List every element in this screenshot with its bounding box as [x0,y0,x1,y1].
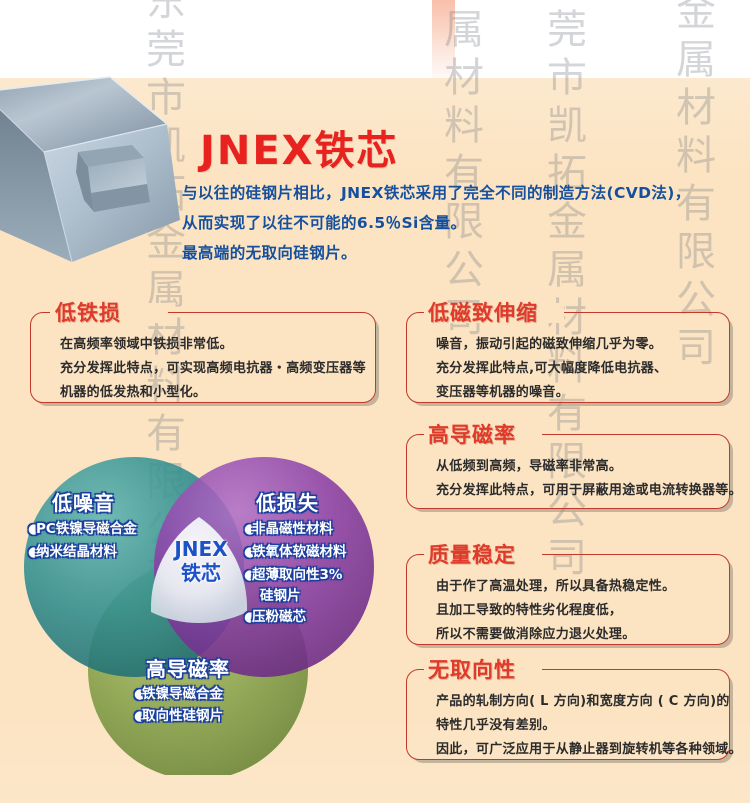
intro-line-2: 从而实现了以往不可能的6.5％Si含量。 [182,208,750,238]
feature-body: 由于作了高温处理，所以具备热稳定性。 且加工导致的特性劣化程度低， 所以不需要做… [436,575,714,647]
steel-core-block-icon [0,72,197,287]
feature-line: 充分发挥此特点,可大幅度降低电抗器、 [436,357,714,381]
feature-line: 所以不需要做消除应力退火处理。 [436,623,714,647]
intro-paragraph: 与以往的硅钢片相比，JNEX铁芯采用了完全不同的制造方法(CVD法)， 从而实现… [182,178,750,268]
feature-line: 变压器等机器的噪音。 [436,381,714,405]
venn-item: 硅钢片 [260,586,301,607]
feature-body: 噪音，振动引起的磁致伸缩几乎为零。 充分发挥此特点,可大幅度降低电抗器、 变压器… [436,333,714,405]
top-white-band [0,0,750,78]
feature-line: 从低频到高频，导磁率非常高。 [436,455,714,479]
bullet-icon: ● [134,706,142,727]
venn-center-line-1: JNEX [156,537,246,561]
venn-title-low-loss: 低损失 [256,487,319,516]
feature-box-non-oriented: 无取向性 产品的轧制方向( L 方向)和宽度方向 ( C 方向)的 特性几乎没有… [406,660,734,760]
feature-line: 且加工导致的特性劣化程度低， [436,599,714,623]
venn-item: ●铁氧体软磁材料 [244,542,347,563]
feature-box-high-permeability: 高导磁率 从低频到高频，导磁率非常高。 充分发挥此特点，可用于屏蔽用途或电流转换… [406,425,734,509]
venn-item: ●压粉磁芯 [244,607,306,628]
venn-item: ●纳米结晶材料 [28,542,117,563]
feature-line: 机器的低发热和小型化。 [60,381,360,405]
feature-title: 质量稳定 [428,539,516,569]
feature-title: 高导磁率 [428,419,516,449]
page-title: JNEX铁芯 [200,118,399,176]
pink-accent-stripe [432,0,455,79]
feature-line: 产品的轧制方向( L 方向)和宽度方向 ( C 方向)的 [436,690,714,714]
intro-line-3: 最高端的无取向硅钢片。 [182,238,750,268]
feature-box-stable-quality: 质量稳定 由于作了高温处理，所以具备热稳定性。 且加工导致的特性劣化程度低， 所… [406,545,734,645]
feature-line: 充分发挥此特点，可用于屏蔽用途或电流转换器等。 [436,479,714,503]
venn-item: ●超薄取向性3% [244,565,342,586]
venn-title-low-noise: 低噪音 [52,487,115,516]
venn-item: ●非晶磁性材料 [244,519,333,540]
feature-line: 噪音，振动引起的磁致伸缩几乎为零。 [436,333,714,357]
feature-line: 在高频率领域中铁损非常低。 [60,333,360,357]
venn-item: ●取向性硅钢片 [134,706,223,727]
bullet-icon: ● [134,684,142,705]
venn-diagram: 低噪音 ●PC铁镍导磁合金 ●纳米结晶材料 低损失 ●非晶磁性材料 ●铁氧体软磁… [6,455,396,775]
bullet-icon: ● [244,607,252,628]
poster-page: 东莞市凯拓金属材料有限公司 东莞市凯拓金属材料有限公司 东莞市凯拓金属材料有限公… [0,0,750,803]
venn-center-label: JNEX 铁芯 [156,537,246,585]
feature-body: 从低频到高频，导磁率非常高。 充分发挥此特点，可用于屏蔽用途或电流转换器等。 [436,455,714,503]
feature-title: 低磁致伸缩 [428,297,538,327]
intro-line-1: 与以往的硅钢片相比，JNEX铁芯采用了完全不同的制造方法(CVD法)， [182,178,750,208]
venn-item: ●铁镍导磁合金 [134,684,223,705]
feature-title: 低铁损 [55,297,121,327]
venn-item: ●PC铁镍导磁合金 [28,519,137,540]
feature-title: 无取向性 [428,654,516,684]
venn-center-line-2: 铁芯 [156,561,246,585]
bullet-icon: ● [28,542,36,563]
feature-line: 特性几乎没有差别。 [436,714,714,738]
feature-box-low-magnetostriction: 低磁致伸缩 噪音，振动引起的磁致伸缩几乎为零。 充分发挥此特点,可大幅度降低电抗… [406,303,734,403]
feature-line: 由于作了高温处理，所以具备热稳定性。 [436,575,714,599]
feature-line: 充分发挥此特点，可实现高频电抗器・高频变压器等 [60,357,360,381]
bullet-icon: ● [28,519,36,540]
feature-box-low-iron-loss: 低铁损 在高频率领域中铁损非常低。 充分发挥此特点，可实现高频电抗器・高频变压器… [30,303,380,403]
feature-body: 产品的轧制方向( L 方向)和宽度方向 ( C 方向)的 特性几乎没有差别。 因… [436,690,714,762]
venn-title-high-permeability: 高导磁率 [146,653,230,682]
feature-line: 因此，可广泛应用于从静止器到旋转机等各种领域。 [436,738,714,762]
feature-body: 在高频率领域中铁损非常低。 充分发挥此特点，可实现高频电抗器・高频变压器等 机器… [60,333,360,405]
